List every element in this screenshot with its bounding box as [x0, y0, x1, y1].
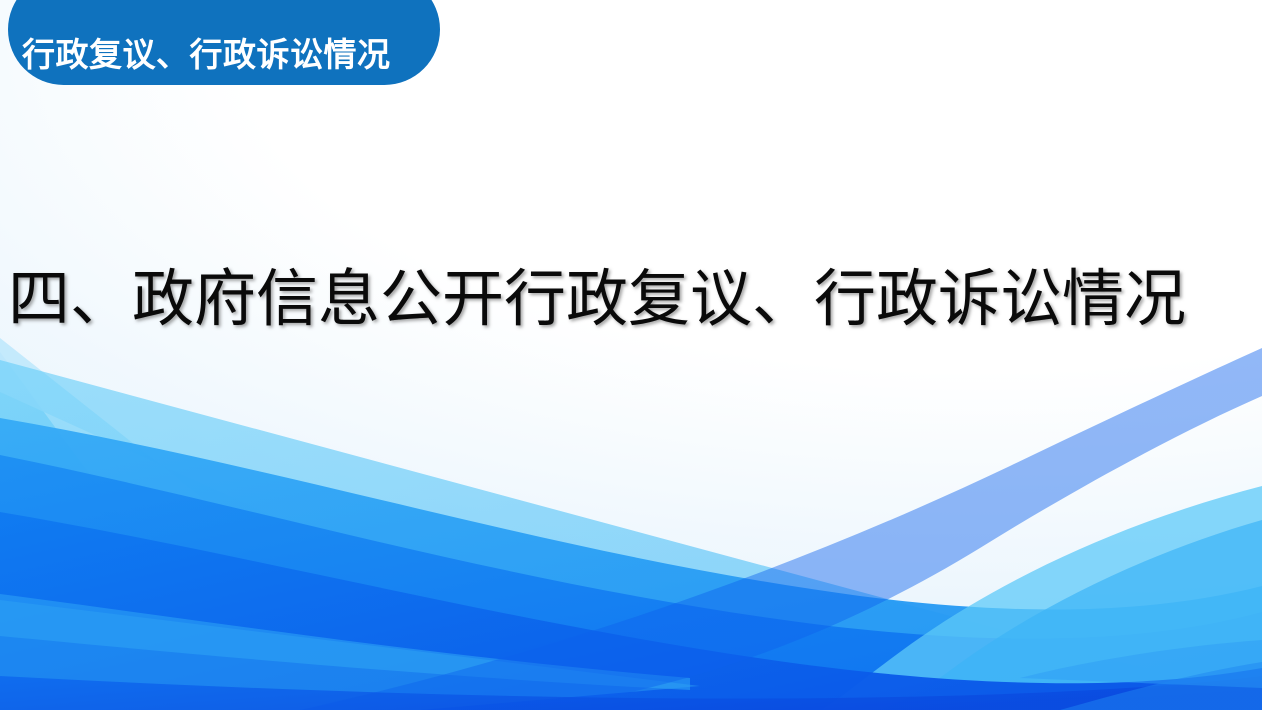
- page-title-text: 四、政府信息公开行政复议、行政诉讼情况: [8, 262, 1186, 335]
- section-badge-label: 行政复议、行政诉讼情况: [22, 38, 391, 71]
- page-title: 四、政府信息公开行政复议、行政诉讼情况: [0, 262, 1262, 335]
- blue-wave-decoration: [0, 0, 1262, 710]
- section-badge: 行政复议、行政诉讼情况: [8, 0, 440, 85]
- slide-root: 行政复议、行政诉讼情况 四、政府信息公开行政复议、行政诉讼情况: [0, 0, 1262, 710]
